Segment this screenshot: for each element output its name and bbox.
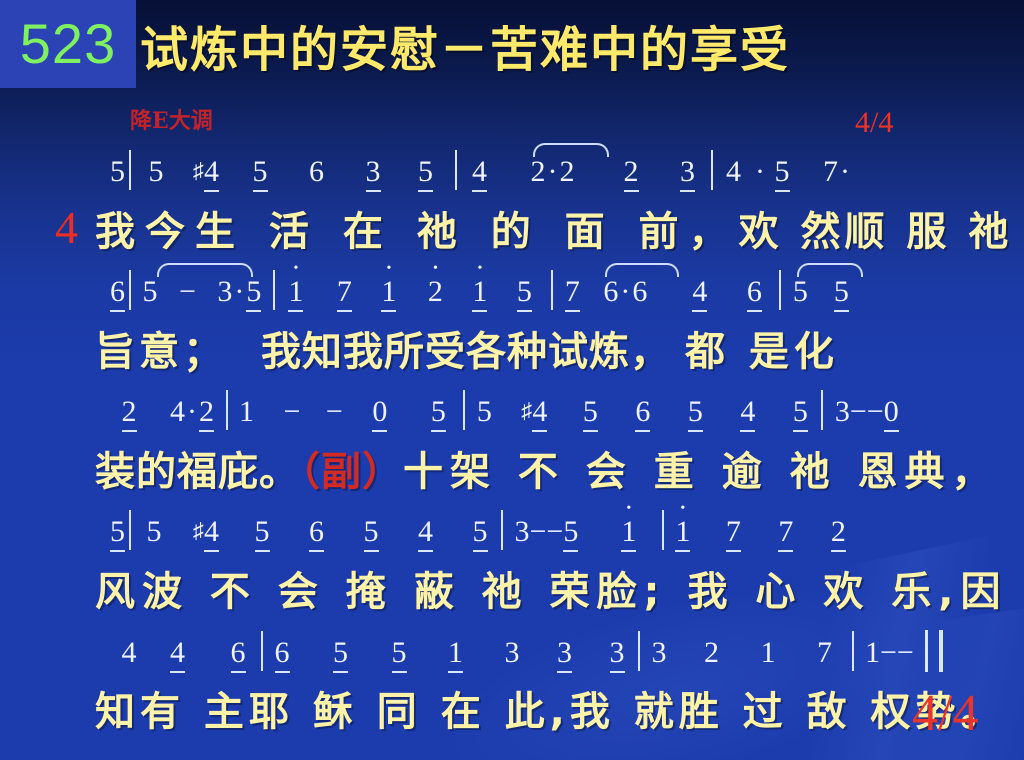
- lyric-line: 我今生 活 在 祂 的 面 前，欢 然顺 服 祂: [0, 202, 1024, 268]
- music-system: 4 4 6 6 5 5 1 3 3 3 3 2 1 7 1−−: [0, 630, 1024, 750]
- notation-line: 2 4·2 1 − − 0 5 5 ♯4 5 6 5 4 5 3−−0: [0, 390, 1024, 442]
- lyric-line: 旨意；我知我所受各种试炼，都 是化: [0, 322, 1024, 388]
- page-title: 试炼中的安慰－苦难中的享受: [140, 26, 790, 74]
- music-systems: 5 5 ♯4 5 6 3 5 4 2·2 2 3 4· 5 7·: [0, 150, 1024, 750]
- music-system: 5 5 ♯4 5 6 3 5 4 2·2 2 3 4· 5 7·: [0, 150, 1024, 270]
- hymn-slide: 523 试炼中的安慰－苦难中的享受 降E大调 4/4 4 5 5 ♯4 5 6 …: [0, 0, 1024, 760]
- lyric-line: 装的福庇。（副）十架 不 会 重 逾 祂 恩典，: [0, 442, 1024, 508]
- music-system: 2 4·2 1 − − 0 5 5 ♯4 5 6 5 4 5 3−−0 装的福: [0, 390, 1024, 510]
- hymn-number-box: 523: [0, 0, 136, 88]
- notation-line: 6 5 − 3·5 1 7 1 2 1 5 7 6·6: [0, 270, 1024, 322]
- key-signature: 降E大调: [130, 110, 213, 132]
- time-signature-top: 4/4: [855, 108, 893, 138]
- notation-line: 4 4 6 6 5 5 1 3 3 3 3 2 1 7 1−−: [0, 630, 1024, 682]
- lyric-line: 风波 不 会 掩 蔽 祂 荣脸; 我 心 欢 乐,因 我: [0, 562, 1024, 628]
- time-signature-bottom: 4/4: [912, 688, 978, 740]
- lyric-chorus-marker: （副）: [300, 449, 403, 495]
- music-system: 6 5 − 3·5 1 7 1 2 1 5 7 6·6: [0, 270, 1024, 390]
- notation-line: 5 5 ♯4 5 6 3 5 4 2·2 2 3 4· 5 7·: [0, 150, 1024, 202]
- lyric-line: 知有 主耶 稣 同 在 此,我 就胜 过 敌 权势。: [0, 682, 1024, 748]
- lyric-text: 装的福庇。: [95, 449, 300, 495]
- notation-line: 5 5 ♯4 5 6 5 4 5 3−−5 1 1 7 7 2: [0, 510, 1024, 562]
- music-system: 5 5 ♯4 5 6 5 4 5 3−−5 1 1 7 7 2 风波 不 会 掩…: [0, 510, 1024, 630]
- hymn-number: 523: [20, 16, 116, 72]
